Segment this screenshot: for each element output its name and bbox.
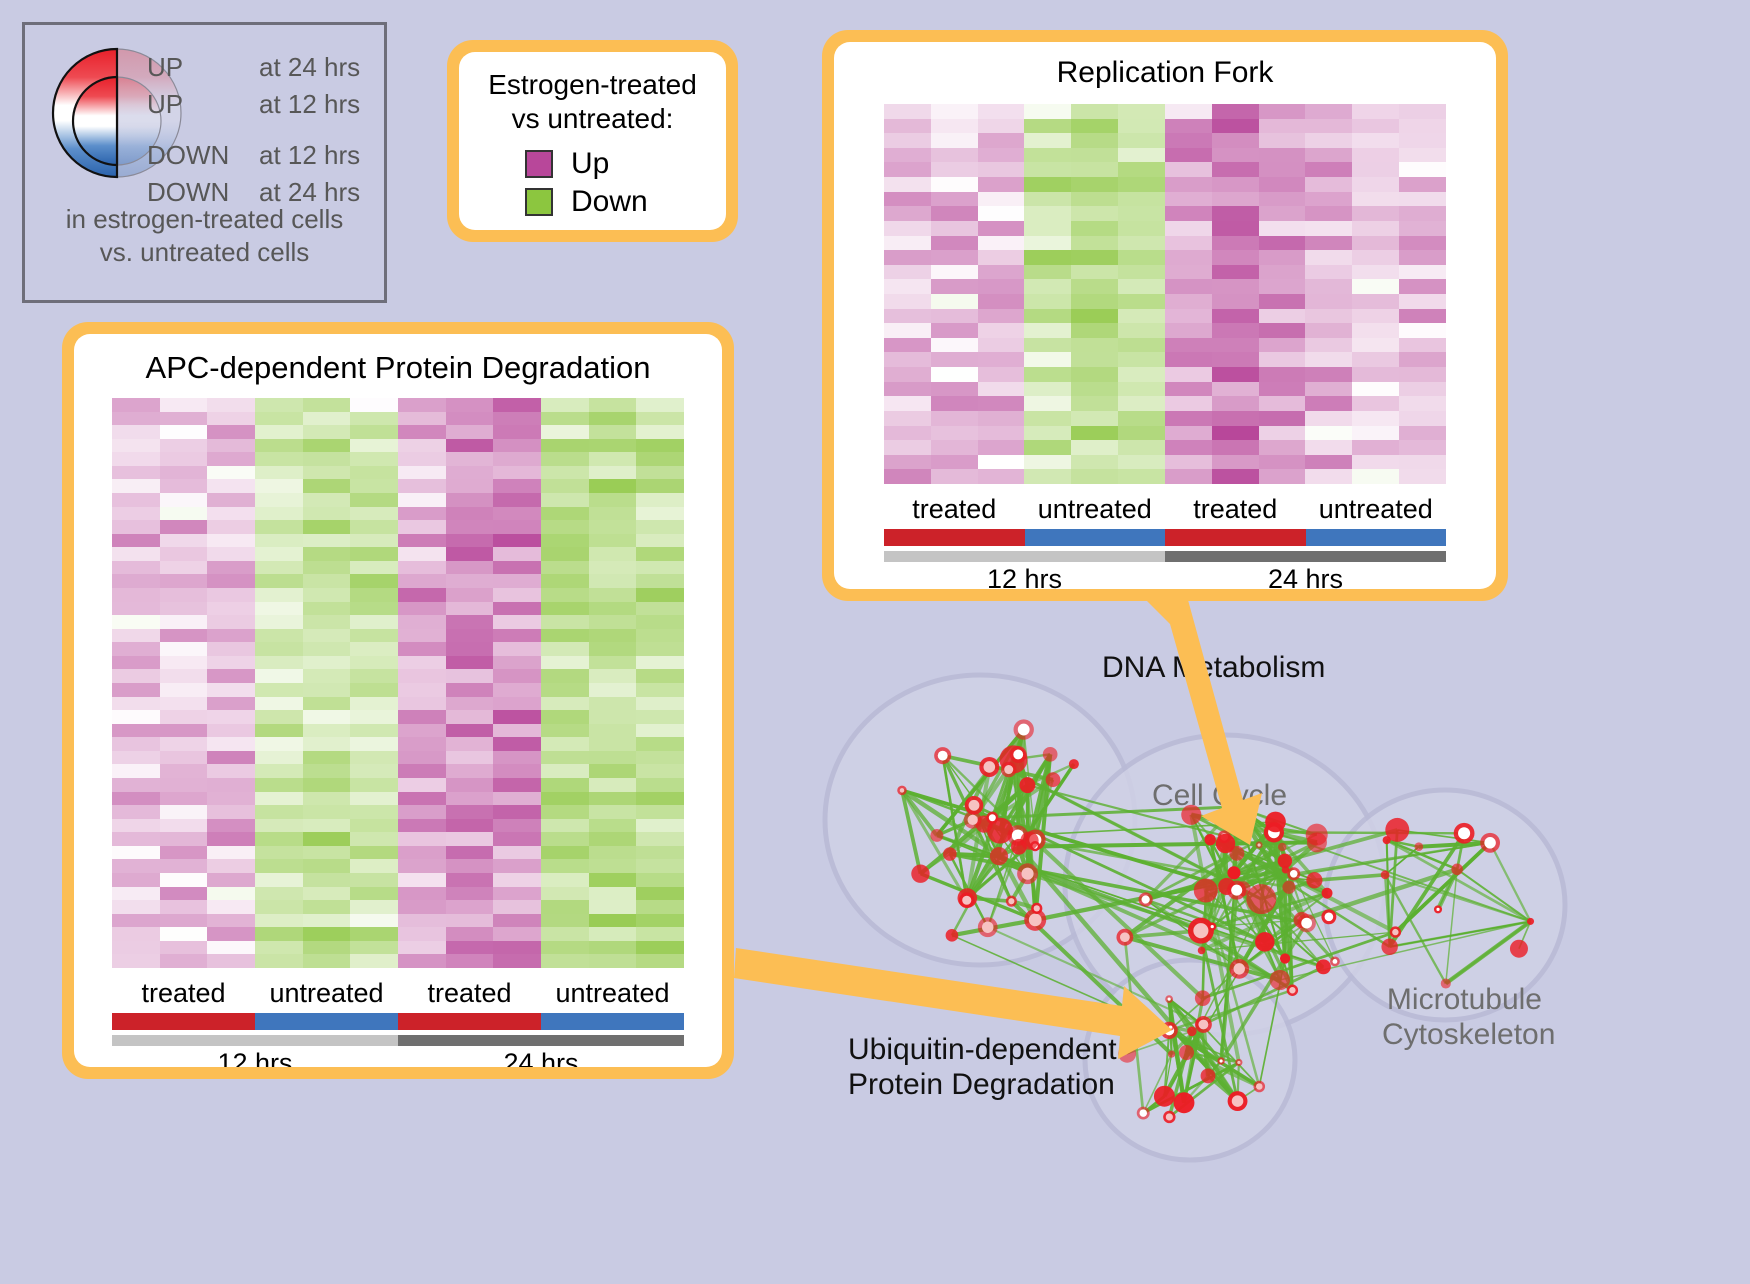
network-node[interactable]: [1188, 918, 1214, 944]
heatmap-cell: [1259, 250, 1306, 265]
heatmap-cell: [446, 737, 494, 751]
heatmap-cell: [207, 439, 255, 453]
heatmap-cell: [493, 656, 541, 670]
heatmap-cell: [398, 873, 446, 887]
heatmap-cell: [160, 479, 208, 493]
network-node[interactable]: [1217, 1057, 1224, 1064]
heatmap-cell: [1399, 148, 1446, 163]
heatmap-cell: [589, 425, 637, 439]
heatmap-cell: [160, 534, 208, 548]
heatmap-cell: [303, 452, 351, 466]
heatmap-cell: [636, 412, 684, 426]
network-node[interactable]: [1154, 1086, 1175, 1107]
heatmap-cell: [350, 439, 398, 453]
heatmap-cell: [207, 561, 255, 575]
network-node[interactable]: [1031, 903, 1042, 914]
heatmap-cell: [1259, 177, 1306, 192]
heatmap-cell: [1259, 440, 1306, 455]
heatmap-cell: [931, 367, 978, 382]
heatmap-cell: [1071, 221, 1118, 236]
network-node[interactable]: [1165, 995, 1173, 1003]
heatmap-cell: [207, 859, 255, 873]
network-node[interactable]: [1454, 823, 1475, 844]
axis-replication-fork: treated untreated treated untreated 12 h: [884, 494, 1446, 589]
heatmap-cell: [636, 547, 684, 561]
heatmap-cell: [446, 764, 494, 778]
heatmap-cell: [884, 338, 931, 353]
heatmap-cell: [112, 954, 160, 968]
network-node[interactable]: [1168, 1050, 1175, 1057]
heatmap-cell: [255, 724, 303, 738]
network-node[interactable]: [986, 812, 998, 824]
heatmap-cell: [1165, 236, 1212, 251]
network-node[interactable]: [1163, 1111, 1175, 1123]
heatmap-cell: [884, 382, 931, 397]
heatmap-cell: [112, 547, 160, 561]
color-key-row: UP at 24 hrs: [147, 49, 387, 86]
heatmap-cell: [1165, 250, 1212, 265]
heatmap-cell: [446, 466, 494, 480]
network-node[interactable]: [1255, 932, 1275, 952]
heatmap-cell: [493, 751, 541, 765]
heatmap-cell: [1305, 440, 1352, 455]
heatmap-cell: [207, 764, 255, 778]
network-node[interactable]: [1208, 922, 1216, 930]
network-node[interactable]: [1246, 884, 1276, 914]
heatmap-cell: [493, 520, 541, 534]
heatmap-cell: [207, 887, 255, 901]
heatmap-cell: [1259, 323, 1306, 338]
network-node[interactable]: [979, 757, 999, 777]
heatmap-cell: [303, 520, 351, 534]
heatmap-cell: [207, 520, 255, 534]
network-node[interactable]: [1451, 864, 1463, 876]
heatmap-cell: [350, 534, 398, 548]
heatmap-cell: [636, 778, 684, 792]
network-node[interactable]: [1278, 843, 1286, 851]
network-node[interactable]: [1014, 719, 1034, 739]
network-node[interactable]: [1174, 1092, 1195, 1113]
cluster-label-cell-cycle: Cell Cycle: [1152, 778, 1287, 813]
heatmap-cell: [884, 294, 931, 309]
heatmap-cell: [1399, 352, 1446, 367]
network-node[interactable]: [1227, 866, 1240, 879]
heatmap-cell: [1352, 221, 1399, 236]
heatmap-cell: [160, 914, 208, 928]
heatmap-cell: [1399, 440, 1446, 455]
heatmap-cell: [350, 452, 398, 466]
heatmap-cell: [636, 819, 684, 833]
heatmap-cell: [160, 859, 208, 873]
heatmap-cell: [112, 452, 160, 466]
heatmap-cell: [589, 507, 637, 521]
heatmap-cell: [303, 493, 351, 507]
network-node[interactable]: [1116, 929, 1133, 946]
network-node[interactable]: [1282, 881, 1295, 894]
network-node[interactable]: [1316, 959, 1331, 974]
network-node[interactable]: [930, 829, 943, 842]
heatmap-cell: [303, 479, 351, 493]
axis-group-label: untreated: [1025, 494, 1166, 525]
apc-panel: APC-dependent Protein Degradation treate…: [62, 322, 734, 1079]
network-node[interactable]: [1480, 833, 1500, 853]
heatmap-cell: [493, 588, 541, 602]
network-node[interactable]: [1434, 905, 1442, 913]
heatmap-cell: [446, 954, 494, 968]
heatmap-cell: [1212, 338, 1259, 353]
heatmap-cell: [398, 615, 446, 629]
network-node[interactable]: [978, 917, 998, 937]
heatmap-cell: [1352, 250, 1399, 265]
network-node[interactable]: [1321, 909, 1336, 924]
heatmap-cell: [493, 927, 541, 941]
heatmap-cell: [207, 954, 255, 968]
heatmap-cell: [1399, 338, 1446, 353]
heatmap-cell: [1118, 382, 1165, 397]
heatmap-cell: [541, 520, 589, 534]
heatmap-cell: [1259, 265, 1306, 280]
network-node[interactable]: [1265, 812, 1286, 833]
heatmap-cell: [978, 396, 1025, 411]
network-node[interactable]: [1322, 888, 1333, 899]
heatmap-cell: [636, 520, 684, 534]
network-node[interactable]: [897, 786, 907, 796]
network-node[interactable]: [934, 747, 951, 764]
heatmap-cell: [1212, 382, 1259, 397]
heatmap-cell: [160, 792, 208, 806]
heatmap-cell: [1212, 192, 1259, 207]
heatmap-cell: [207, 914, 255, 928]
heatmap-cell: [1305, 426, 1352, 441]
color-key-footnote-line2: vs. untreated cells: [25, 236, 384, 269]
heatmap-cell: [1259, 221, 1306, 236]
network-node[interactable]: [1297, 914, 1316, 933]
heatmap-cell: [112, 588, 160, 602]
heatmap-cell: [1305, 469, 1352, 484]
network-node[interactable]: [1069, 759, 1079, 769]
network-node[interactable]: [1006, 896, 1017, 907]
heatmap-cell: [493, 900, 541, 914]
network-node[interactable]: [1383, 836, 1391, 844]
network-node[interactable]: [1307, 832, 1327, 852]
heatmap-cell: [636, 656, 684, 670]
network-node[interactable]: [1306, 872, 1322, 888]
heatmap-cell: [1024, 221, 1071, 236]
heatmap-cell: [1024, 352, 1071, 367]
network-node[interactable]: [1229, 959, 1249, 979]
heatmap-cell: [493, 412, 541, 426]
heatmap-cell: [931, 119, 978, 134]
heatmap-cell: [160, 887, 208, 901]
network-node[interactable]: [1010, 746, 1027, 763]
heatmap-cell: [978, 133, 1025, 148]
heatmap-cell: [1071, 426, 1118, 441]
heatmap-cell: [589, 574, 637, 588]
network-node[interactable]: [946, 929, 959, 942]
network-node[interactable]: [911, 865, 929, 883]
heatmap-cell: [446, 669, 494, 683]
heatmap-cell: [978, 323, 1025, 338]
network-node[interactable]: [1201, 1068, 1216, 1083]
heatmap-cell: [303, 466, 351, 480]
heatmap-cell: [303, 398, 351, 412]
heatmap-cell: [589, 642, 637, 656]
network-node[interactable]: [1256, 841, 1263, 848]
heatmap-cell: [160, 683, 208, 697]
heatmap-cell: [931, 148, 978, 163]
heatmap-cell: [1352, 309, 1399, 324]
network-node[interactable]: [1278, 854, 1292, 868]
heatmap-cell: [1399, 426, 1446, 441]
network-node[interactable]: [1167, 1024, 1174, 1031]
heatmap-cell: [207, 710, 255, 724]
heatmap-cell: [636, 574, 684, 588]
heatmap-cell: [589, 452, 637, 466]
heatmap-cell: [884, 177, 931, 192]
heatmap-cell: [589, 900, 637, 914]
heatmap-cell: [160, 737, 208, 751]
heatmap-cell: [1399, 265, 1446, 280]
heatmap-cell: [255, 588, 303, 602]
heatmap-cell: [1352, 148, 1399, 163]
network-node[interactable]: [1187, 1027, 1197, 1037]
heatmap-cell: [160, 547, 208, 561]
heatmap-cell: [1024, 148, 1071, 163]
heatmap-cell: [1165, 279, 1212, 294]
heatmap-cell: [1259, 411, 1306, 426]
heatmap-cell: [589, 941, 637, 955]
heatmap-cell: [541, 710, 589, 724]
heatmap-cell: [1118, 104, 1165, 119]
heatmap-cell: [1024, 192, 1071, 207]
heatmap-cell: [303, 615, 351, 629]
heatmap-cell: [1212, 294, 1259, 309]
heatmap-cell: [1212, 279, 1259, 294]
heatmap-cell: [978, 221, 1025, 236]
network-node[interactable]: [1198, 947, 1206, 955]
heatmap-cell: [493, 697, 541, 711]
heatmap-cell: [398, 859, 446, 873]
heatmap-cell: [446, 574, 494, 588]
network-node[interactable]: [1381, 870, 1390, 879]
network-node[interactable]: [1287, 867, 1300, 880]
cluster-label-dna-metabolism: DNA Metabolism: [1102, 650, 1325, 685]
heatmap-cell: [1024, 294, 1071, 309]
network-node[interactable]: [1280, 953, 1290, 963]
heatmap-cell: [541, 561, 589, 575]
heatmap-cell: [1352, 469, 1399, 484]
heatmap-cell: [112, 412, 160, 426]
heatmap-cell: [1305, 396, 1352, 411]
heatmap-cell: [350, 900, 398, 914]
heatmap-cell: [398, 900, 446, 914]
network-node[interactable]: [1179, 1045, 1194, 1060]
heatmap-replication-fork: [884, 104, 1446, 484]
heatmap-cell: [207, 846, 255, 860]
heatmap-cell: [978, 119, 1025, 134]
heatmap-cell: [493, 764, 541, 778]
network-node[interactable]: [1137, 1107, 1150, 1120]
heatmap-cell: [255, 493, 303, 507]
heatmap-cell: [636, 479, 684, 493]
heatmap-cell: [398, 425, 446, 439]
heatmap-cell: [1024, 455, 1071, 470]
up-color-swatch-icon: [525, 150, 553, 178]
network-node[interactable]: [964, 811, 982, 829]
heatmap-cell: [1352, 279, 1399, 294]
heatmap-cell: [446, 452, 494, 466]
network-node[interactable]: [1227, 881, 1246, 900]
heatmap-cell: [1118, 192, 1165, 207]
heatmap-cell: [1071, 104, 1118, 119]
heatmap-cell: [112, 724, 160, 738]
heatmap-cell: [1024, 265, 1071, 280]
heatmap-cell: [255, 439, 303, 453]
heatmap-cell: [636, 493, 684, 507]
network-node[interactable]: [1194, 879, 1218, 903]
heatmap-cell: [350, 520, 398, 534]
network-node[interactable]: [1046, 772, 1061, 787]
heatmap-cell: [207, 452, 255, 466]
heatmap-cell: [589, 710, 637, 724]
axis-group-label: treated: [112, 978, 255, 1009]
heatmap-cell: [303, 737, 351, 751]
heatmap-cell: [1352, 119, 1399, 134]
axis-treatment-bar: [884, 529, 1446, 546]
color-key-time: at 12 hrs: [259, 140, 360, 171]
heatmap-cell: [446, 846, 494, 860]
heatmap-cell: [978, 236, 1025, 251]
heatmap-cell: [446, 859, 494, 873]
heatmap-cell: [255, 941, 303, 955]
heatmap-cell: [493, 452, 541, 466]
network-node[interactable]: [1205, 834, 1216, 845]
network-node[interactable]: [1019, 777, 1035, 793]
heatmap-cell: [931, 469, 978, 484]
network-node[interactable]: [943, 847, 957, 861]
heatmap-cell: [931, 323, 978, 338]
heatmap-cell: [636, 588, 684, 602]
heatmap-cell: [931, 426, 978, 441]
legend-item-up: Up: [525, 145, 726, 183]
heatmap-cell: [636, 602, 684, 616]
heatmap-cell: [112, 466, 160, 480]
heatmap-cell: [207, 534, 255, 548]
heatmap-cell: [1165, 455, 1212, 470]
heatmap-cell: [884, 148, 931, 163]
heatmap-cell: [1024, 133, 1071, 148]
heatmap-cell: [931, 104, 978, 119]
network-node[interactable]: [1527, 918, 1534, 925]
heatmap-cell: [1305, 279, 1352, 294]
heatmap-cell: [398, 724, 446, 738]
network-node[interactable]: [1381, 939, 1397, 955]
heatmap-cell: [112, 819, 160, 833]
network-node[interactable]: [1287, 985, 1298, 996]
network-node[interactable]: [1139, 892, 1153, 906]
network-node[interactable]: [1118, 1045, 1136, 1063]
heatmap-cell: [446, 941, 494, 955]
heatmap-cell: [112, 805, 160, 819]
network-node[interactable]: [1235, 1059, 1242, 1066]
heatmap-cell: [884, 426, 931, 441]
heatmap-cell: [884, 265, 931, 280]
heatmap-cell: [255, 751, 303, 765]
heatmap-cell: [160, 941, 208, 955]
heatmap-cell: [589, 412, 637, 426]
heatmap-cell: [303, 439, 351, 453]
heatmap-cell: [978, 367, 1025, 382]
heatmap-cell: [303, 792, 351, 806]
heatmap-cell: [255, 737, 303, 751]
heatmap-cell: [207, 398, 255, 412]
network-node[interactable]: [1195, 1016, 1212, 1033]
network-node[interactable]: [1510, 940, 1528, 958]
heatmap-cell: [1399, 367, 1446, 382]
heatmap-cell: [978, 455, 1025, 470]
heatmap-cell: [541, 669, 589, 683]
heatmap-cell: [350, 846, 398, 860]
network-node[interactable]: [1415, 842, 1424, 851]
heatmap-cell: [1259, 192, 1306, 207]
heatmap-cell: [1305, 133, 1352, 148]
heatmap-cell: [398, 479, 446, 493]
network-node[interactable]: [1270, 970, 1290, 990]
heatmap-cell: [541, 887, 589, 901]
heatmap-cell: [884, 192, 931, 207]
heatmap-cell: [1352, 455, 1399, 470]
heatmap-cell: [112, 629, 160, 643]
heatmap-cell: [884, 309, 931, 324]
heatmap-cell: [255, 697, 303, 711]
heatmap-cell: [1352, 440, 1399, 455]
heatmap-cell: [255, 534, 303, 548]
heatmap-cell: [1024, 206, 1071, 221]
heatmap-cell: [978, 206, 1025, 221]
network-node[interactable]: [959, 892, 975, 908]
heatmap-cell: [1352, 426, 1399, 441]
heatmap-cell: [589, 737, 637, 751]
heatmap-cell: [1305, 455, 1352, 470]
heatmap-cell: [112, 846, 160, 860]
heatmap-cell: [541, 737, 589, 751]
heatmap-cell: [636, 452, 684, 466]
network-node[interactable]: [1195, 990, 1211, 1006]
heatmap-cell: [112, 439, 160, 453]
network-node[interactable]: [1017, 863, 1038, 884]
heatmap-cell: [446, 547, 494, 561]
network-node[interactable]: [1020, 831, 1038, 849]
heatmap-cell: [1212, 396, 1259, 411]
network-node[interactable]: [1390, 926, 1401, 937]
network-node[interactable]: [990, 847, 1008, 865]
network-node[interactable]: [1043, 747, 1058, 762]
cluster-label-line: Ubiquitin-dependent: [848, 1032, 1117, 1067]
heatmap-cell: [350, 697, 398, 711]
network-node[interactable]: [1001, 762, 1017, 778]
heatmap-cell: [112, 398, 160, 412]
network-node[interactable]: [1229, 846, 1244, 861]
network-node[interactable]: [1330, 956, 1340, 966]
heatmap-cell: [1024, 104, 1071, 119]
heatmap-cell: [1352, 133, 1399, 148]
heatmap-cell: [350, 615, 398, 629]
heatmap-cell: [1259, 309, 1306, 324]
heatmap-cell: [255, 927, 303, 941]
network-node[interactable]: [1253, 1081, 1265, 1093]
heatmap-cell: [255, 574, 303, 588]
network-node[interactable]: [1228, 1091, 1248, 1111]
